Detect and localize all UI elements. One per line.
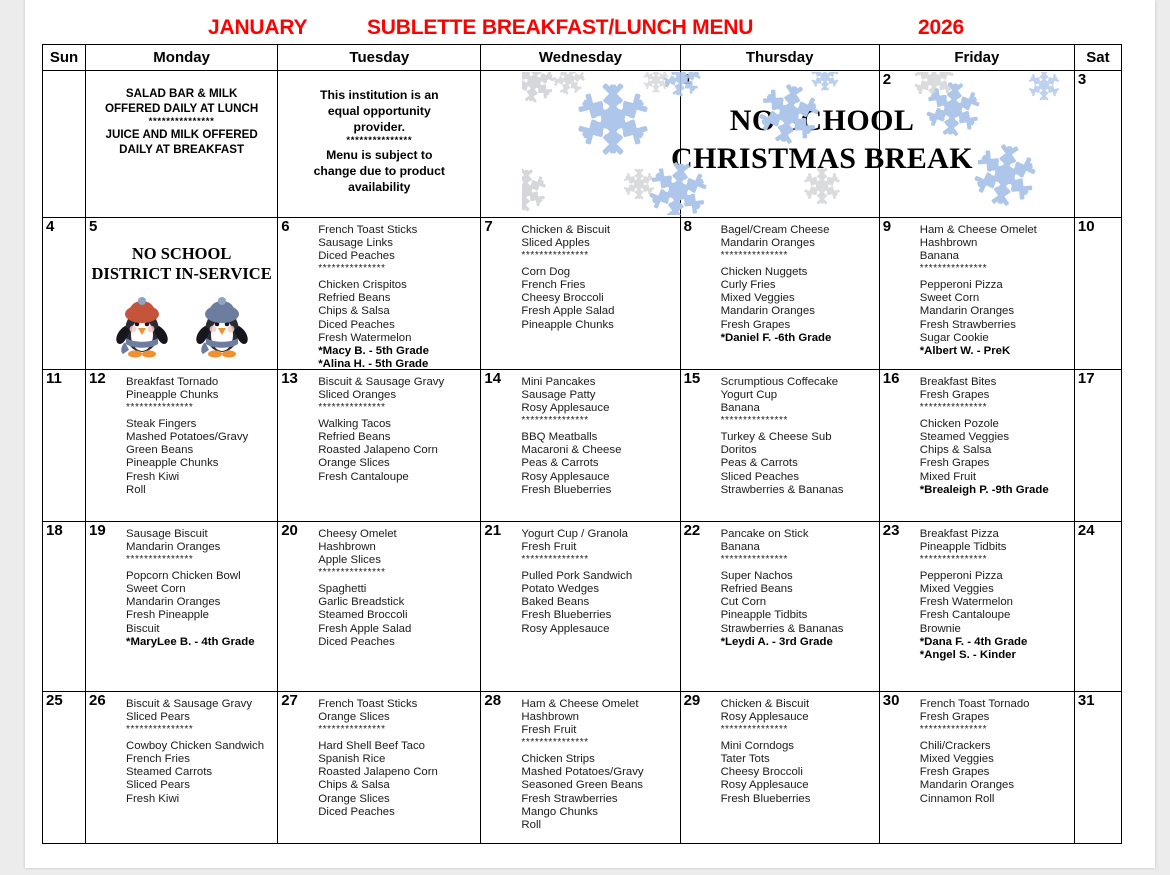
lunch-item: Fresh Strawberries	[920, 319, 1070, 332]
lunch-item: Mandarin Oranges	[920, 305, 1070, 318]
lunch-item: BBQ Meatballs	[521, 431, 675, 444]
breakfast-item: Hashbrown	[521, 711, 675, 724]
lunch-item: Cheesy Broccoli	[521, 292, 675, 305]
breakfast-item: Banana	[721, 541, 875, 554]
institution-line5: change due to product	[314, 164, 445, 178]
menu-separator: ***************	[318, 263, 476, 274]
day-menu: Scrumptious CoffecakeYogurt CupBanana***…	[721, 376, 875, 497]
lunch-item: Chips & Salsa	[318, 305, 476, 318]
calendar-day-cell[interactable]: 12Breakfast TornadoPineapple Chunks*****…	[86, 370, 278, 522]
breakfast-item: Apple Slices	[318, 554, 476, 567]
birthday-note: *Alina H. - 5th Grade	[318, 358, 476, 371]
breakfast-item: Bagel/Cream Cheese	[721, 224, 875, 237]
lunch-item: Fresh Apple Salad	[318, 623, 476, 636]
lunch-item: Mashed Potatoes/Gravy	[521, 766, 675, 779]
institution-separator: ***************	[286, 135, 472, 147]
lunch-item: Pepperoni Pizza	[920, 279, 1070, 292]
lunch-item: Chicken Crispitos	[318, 279, 476, 292]
weekday-header-monday: Monday	[86, 45, 278, 71]
calendar-day-cell[interactable]: SALAD BAR & MILK OFFERED DAILY AT LUNCH …	[86, 71, 278, 218]
menu-separator: ***************	[126, 402, 273, 413]
day-number: 17	[1078, 371, 1095, 387]
institution-notice: This institution is an equal opportunity…	[286, 87, 472, 195]
menu-calendar-table: Sun Monday Tuesday Wednesday Thursday Fr…	[42, 44, 1122, 844]
calendar-day-cell[interactable]: 9Ham & Cheese OmeletHashbrownBanana*****…	[879, 218, 1074, 370]
lunch-item: Mixed Fruit	[920, 471, 1070, 484]
day-menu: Sausage BiscuitMandarin Oranges*********…	[126, 528, 273, 649]
lunch-item: Pineapple Chunks	[126, 457, 273, 470]
weekday-header-sun: Sun	[43, 45, 86, 71]
calendar-week-row: 2526Biscuit & Sausage GravySliced Pears*…	[43, 692, 1122, 844]
weekday-header-row: Sun Monday Tuesday Wednesday Thursday Fr…	[43, 45, 1122, 71]
lunch-item: Orange Slices	[318, 457, 476, 470]
calendar-day-cell[interactable]: 18	[43, 522, 86, 692]
birthday-note: *Dana F. - 4th Grade	[920, 636, 1070, 649]
lunch-item: Hard Shell Beef Taco	[318, 740, 476, 753]
day-menu: French Toast SticksOrange Slices********…	[318, 698, 476, 819]
institution-line4: Menu is subject to	[326, 148, 432, 162]
day-number: 29	[684, 693, 701, 709]
day-number: 1	[684, 72, 692, 88]
lunch-item: Fresh Blueberries	[521, 484, 675, 497]
calendar-day-cell[interactable]: This institution is an equal opportunity…	[278, 71, 481, 218]
lunch-item: Roasted Jalapeno Corn	[318, 444, 476, 457]
breakfast-item: Orange Slices	[318, 711, 476, 724]
lunch-item: Spaghetti	[318, 583, 476, 596]
lunch-item: Steamed Carrots	[126, 766, 273, 779]
lunch-item: Mixed Veggies	[920, 753, 1070, 766]
lunch-item: Peas & Carrots	[521, 457, 675, 470]
lunch-item: Diced Peaches	[318, 319, 476, 332]
breakfast-item: Fresh Grapes	[920, 711, 1070, 724]
weekday-header-thursday: Thursday	[680, 45, 879, 71]
day-number: 12	[89, 371, 106, 387]
lunch-item: Pineapple Tidbits	[721, 609, 875, 622]
menu-separator: ***************	[721, 415, 875, 426]
breakfast-item: Pineapple Chunks	[126, 389, 273, 402]
lunch-item: Fresh Kiwi	[126, 793, 273, 806]
lunch-item: Steak Fingers	[126, 418, 273, 431]
breakfast-item: Cheesy Omelet	[318, 528, 476, 541]
calendar-day-cell[interactable]: 22Pancake on StickBanana***************S…	[680, 522, 879, 692]
day-number: 6	[281, 219, 289, 235]
day-number: 15	[684, 371, 701, 387]
day-menu: Breakfast PizzaPineapple Tidbits********…	[920, 528, 1070, 662]
day-menu: Pancake on StickBanana***************Sup…	[721, 528, 875, 649]
birthday-note: *Daniel F. -6th Grade	[721, 332, 875, 345]
birthday-note: *MaryLee B. - 4th Grade	[126, 636, 273, 649]
breakfast-item: Chicken & Biscuit	[721, 698, 875, 711]
breakfast-item: Pineapple Tidbits	[920, 541, 1070, 554]
breakfast-item: Rosy Applesauce	[721, 711, 875, 724]
day-number: 13	[281, 371, 298, 387]
breakfast-item: Diced Peaches	[318, 250, 476, 263]
breakfast-item: Sausage Biscuit	[126, 528, 273, 541]
institution-line1: This institution is an	[320, 88, 439, 102]
day-menu: French Toast SticksSausage LinksDiced Pe…	[318, 224, 476, 371]
lunch-item: Fresh Watermelon	[318, 332, 476, 345]
calendar-day-cell[interactable]	[481, 71, 680, 218]
breakfast-item: Rosy Applesauce	[521, 402, 675, 415]
lunch-item: Sugar Cookie	[920, 332, 1070, 345]
calendar-week-row: 1819Sausage BiscuitMandarin Oranges*****…	[43, 522, 1122, 692]
breakfast-item: Ham & Cheese Omelet	[521, 698, 675, 711]
calendar-day-cell[interactable]: 28Ham & Cheese OmeletHashbrownFresh Frui…	[481, 692, 680, 844]
lunch-item: Cowboy Chicken Sandwich	[126, 740, 273, 753]
lunch-item: Steamed Veggies	[920, 431, 1070, 444]
breakfast-item: Sliced Pears	[126, 711, 273, 724]
day-number: 21	[484, 523, 501, 539]
lunch-item: Brownie	[920, 623, 1070, 636]
lunch-item: Biscuit	[126, 623, 273, 636]
lunch-item: Refried Beans	[318, 292, 476, 305]
salad-notice-line1: SALAD BAR & MILK	[126, 87, 237, 100]
lunch-item: Mini Corndogs	[721, 740, 875, 753]
in-service-notice: NO SCHOOL DISTRICT IN-SERVICE	[86, 244, 277, 284]
day-menu: Ham & Cheese OmeletHashbrownFresh Fruit*…	[521, 698, 675, 832]
lunch-item: Doritos	[721, 444, 875, 457]
calendar-day-cell[interactable]: 24	[1074, 522, 1121, 692]
day-number: 16	[883, 371, 900, 387]
lunch-item: Tater Tots	[721, 753, 875, 766]
lunch-item: French Fries	[126, 753, 273, 766]
day-number: 23	[883, 523, 900, 539]
breakfast-item: Breakfast Bites	[920, 376, 1070, 389]
lunch-item: Seasoned Green Beans	[521, 779, 675, 792]
menu-separator: ***************	[721, 250, 875, 261]
calendar-day-cell[interactable]: 14Mini PancakesSausage PattyRosy Applesa…	[481, 370, 680, 522]
lunch-item: Fresh Cantaloupe	[920, 609, 1070, 622]
calendar-day-cell[interactable]: 6French Toast SticksSausage LinksDiced P…	[278, 218, 481, 370]
breakfast-item: Fresh Fruit	[521, 724, 675, 737]
day-number: 9	[883, 219, 891, 235]
menu-separator: ***************	[126, 554, 273, 565]
lunch-item: Chips & Salsa	[920, 444, 1070, 457]
day-number: 7	[484, 219, 492, 235]
calendar-day-cell[interactable]: 2	[879, 71, 1074, 218]
day-number: 14	[484, 371, 501, 387]
lunch-item: Mandarin Oranges	[126, 596, 273, 609]
weekday-header-sat: Sat	[1074, 45, 1121, 71]
lunch-item: Orange Slices	[318, 793, 476, 806]
day-number: 10	[1078, 219, 1095, 235]
lunch-item: Corn Dog	[521, 266, 675, 279]
salad-notice-line2: OFFERED DAILY AT LUNCH	[105, 102, 258, 115]
menu-separator: ***************	[920, 724, 1070, 735]
breakfast-item: Banana	[920, 250, 1070, 263]
breakfast-item: Biscuit & Sausage Gravy	[126, 698, 273, 711]
lunch-item: Strawberries & Bananas	[721, 623, 875, 636]
lunch-item: Chicken Strips	[521, 753, 675, 766]
menu-separator: ***************	[521, 737, 675, 748]
breakfast-item: Ham & Cheese Omelet	[920, 224, 1070, 237]
lunch-item: Fresh Blueberries	[521, 609, 675, 622]
day-number: 8	[684, 219, 692, 235]
breakfast-item: Breakfast Tornado	[126, 376, 273, 389]
day-number: 26	[89, 693, 106, 709]
weekday-header-wednesday: Wednesday	[481, 45, 680, 71]
lunch-item: Chili/Crackers	[920, 740, 1070, 753]
day-menu: Bagel/Cream CheeseMandarin Oranges******…	[721, 224, 875, 345]
calendar-day-cell[interactable]: 23Breakfast PizzaPineapple Tidbits******…	[879, 522, 1074, 692]
calendar-day-cell[interactable]: 15Scrumptious CoffecakeYogurt CupBanana*…	[680, 370, 879, 522]
penguin-icon	[191, 286, 253, 360]
in-service-line2: DISTRICT IN-SERVICE	[92, 264, 272, 283]
calendar-day-cell[interactable]: 20Cheesy OmeletHashbrownApple Slices****…	[278, 522, 481, 692]
day-number: 30	[883, 693, 900, 709]
lunch-item: Chips & Salsa	[318, 779, 476, 792]
day-menu: Ham & Cheese OmeletHashbrownBanana******…	[920, 224, 1070, 358]
weekday-header-friday: Friday	[879, 45, 1074, 71]
lunch-item: Pepperoni Pizza	[920, 570, 1070, 583]
menu-separator: ***************	[318, 567, 476, 578]
calendar-day-cell[interactable]: 19Sausage BiscuitMandarin Oranges*******…	[86, 522, 278, 692]
lunch-item: Pulled Pork Sandwich	[521, 570, 675, 583]
calendar-day-cell[interactable]: 21Yogurt Cup / GranolaFresh Fruit*******…	[481, 522, 680, 692]
day-menu: Chicken & BiscuitSliced Apples**********…	[521, 224, 675, 332]
menu-separator: ***************	[126, 724, 273, 735]
breakfast-item: Mandarin Oranges	[721, 237, 875, 250]
calendar-day-cell[interactable]: 30French Toast TornadoFresh Grapes******…	[879, 692, 1074, 844]
breakfast-item: Mandarin Oranges	[126, 541, 273, 554]
lunch-item: Spanish Rice	[318, 753, 476, 766]
lunch-item: Rosy Applesauce	[521, 623, 675, 636]
lunch-item: Refried Beans	[721, 583, 875, 596]
lunch-item: Fresh Cantaloupe	[318, 471, 476, 484]
lunch-item: Peas & Carrots	[721, 457, 875, 470]
lunch-item: Turkey & Cheese Sub	[721, 431, 875, 444]
day-menu: Chicken & BiscuitRosy Applesauce********…	[721, 698, 875, 806]
lunch-item: Mandarin Oranges	[920, 779, 1070, 792]
lunch-item: Mandarin Oranges	[721, 305, 875, 318]
lunch-item: Steamed Broccoli	[318, 609, 476, 622]
calendar-year-label: 2026	[918, 16, 964, 40]
penguin-decoration	[86, 286, 277, 360]
calendar-week-row: 45 NO SCHOOL DISTRICT IN-SERVICE	[43, 218, 1122, 370]
salad-notice-line3: JUICE AND MILK OFFERED	[106, 128, 258, 141]
lunch-item: Fresh Pineapple	[126, 609, 273, 622]
calendar-page: JANUARY SUBLETTE BREAKFAST/LUNCH MENU 20…	[25, 0, 1155, 868]
breakfast-item: Fresh Grapes	[920, 389, 1070, 402]
menu-separator: ***************	[920, 554, 1070, 565]
menu-separator: ***************	[920, 402, 1070, 413]
lunch-item: Sliced Pears	[126, 779, 273, 792]
day-menu: French Toast TornadoFresh Grapes********…	[920, 698, 1070, 806]
breakfast-item: Pancake on Stick	[721, 528, 875, 541]
lunch-item: Fresh Kiwi	[126, 471, 273, 484]
lunch-item: Fresh Grapes	[920, 766, 1070, 779]
lunch-item: Green Beans	[126, 444, 273, 457]
lunch-item: Chicken Nuggets	[721, 266, 875, 279]
day-number: 20	[281, 523, 298, 539]
calendar-day-cell[interactable]: 8Bagel/Cream CheeseMandarin Oranges*****…	[680, 218, 879, 370]
lunch-item: Sliced Peaches	[721, 471, 875, 484]
calendar-day-cell[interactable]: 29Chicken & BiscuitRosy Applesauce******…	[680, 692, 879, 844]
menu-separator: ***************	[521, 554, 675, 565]
day-number: 25	[46, 693, 63, 709]
lunch-item: Cinnamon Roll	[920, 793, 1070, 806]
lunch-item: Cheesy Broccoli	[721, 766, 875, 779]
lunch-item: Rosy Applesauce	[521, 471, 675, 484]
calendar-day-cell[interactable]	[43, 71, 86, 218]
calendar-week-row: 1112Breakfast TornadoPineapple Chunks***…	[43, 370, 1122, 522]
lunch-item: Fresh Apple Salad	[521, 305, 675, 318]
lunch-item: Rosy Applesauce	[721, 779, 875, 792]
lunch-item: Roasted Jalapeno Corn	[318, 766, 476, 779]
breakfast-item: Hashbrown	[318, 541, 476, 554]
day-number: 28	[484, 693, 501, 709]
lunch-item: Fresh Blueberries	[721, 793, 875, 806]
lunch-item: Mango Chunks	[521, 806, 675, 819]
lunch-item: Roll	[126, 484, 273, 497]
lunch-item: Mashed Potatoes/Gravy	[126, 431, 273, 444]
calendar-month-label: JANUARY	[208, 16, 307, 40]
lunch-item: Fresh Grapes	[920, 457, 1070, 470]
menu-separator: ***************	[721, 554, 875, 565]
lunch-item: Refried Beans	[318, 431, 476, 444]
calendar-title: SUBLETTE BREAKFAST/LUNCH MENU	[367, 16, 753, 40]
breakfast-item: Scrumptious Coffecake	[721, 376, 875, 389]
birthday-note: *Angel S. - Kinder	[920, 649, 1070, 662]
calendar-day-cell[interactable]: 26Biscuit & Sausage GravySliced Pears***…	[86, 692, 278, 844]
day-number: 11	[46, 371, 62, 387]
lunch-item: Sweet Corn	[126, 583, 273, 596]
lunch-item: Fresh Watermelon	[920, 596, 1070, 609]
calendar-day-cell[interactable]: 10	[1074, 218, 1121, 370]
lunch-item: Baked Beans	[521, 596, 675, 609]
day-number: 22	[684, 523, 701, 539]
calendar-day-cell[interactable]: 13Biscuit & Sausage GravySliced Oranges*…	[278, 370, 481, 522]
institution-line2: equal opportunity	[328, 104, 431, 118]
day-number: 3	[1078, 72, 1086, 88]
menu-separator: ***************	[318, 724, 476, 735]
lunch-item: Walking Tacos	[318, 418, 476, 431]
lunch-item: Pineapple Chunks	[521, 319, 675, 332]
calendar-day-cell[interactable]: 27French Toast SticksOrange Slices******…	[278, 692, 481, 844]
calendar-day-cell[interactable]: 11	[43, 370, 86, 522]
lunch-item: Strawberries & Bananas	[721, 484, 875, 497]
breakfast-item: Banana	[721, 402, 875, 415]
breakfast-item: Sliced Apples	[521, 237, 675, 250]
day-menu: Biscuit & Sausage GravySliced Oranges***…	[318, 376, 476, 484]
lunch-item: Fresh Strawberries	[521, 793, 675, 806]
lunch-item: Macaroni & Cheese	[521, 444, 675, 457]
lunch-item: Sweet Corn	[920, 292, 1070, 305]
breakfast-item: Sausage Patty	[521, 389, 675, 402]
breakfast-item: Biscuit & Sausage Gravy	[318, 376, 476, 389]
calendar-week-row: SALAD BAR & MILK OFFERED DAILY AT LUNCH …	[43, 71, 1122, 218]
weekday-header-tuesday: Tuesday	[278, 45, 481, 71]
calendar-title-bar: JANUARY SUBLETTE BREAKFAST/LUNCH MENU 20…	[42, 16, 1137, 42]
lunch-item: Diced Peaches	[318, 636, 476, 649]
lunch-item: Mixed Veggies	[721, 292, 875, 305]
calendar-day-cell[interactable]: 4	[43, 218, 86, 370]
lunch-item: Cut Corn	[721, 596, 875, 609]
calendar-day-cell[interactable]: 3	[1074, 71, 1121, 218]
day-number: 31	[1078, 693, 1095, 709]
day-menu: Mini PancakesSausage PattyRosy Applesauc…	[521, 376, 675, 497]
salad-notice-line4: DAILY AT BREAKFAST	[119, 143, 244, 156]
day-menu: Yogurt Cup / GranolaFresh Fruit*********…	[521, 528, 675, 636]
salad-bar-notice: SALAD BAR & MILK OFFERED DAILY AT LUNCH …	[94, 87, 269, 157]
day-number: 4	[46, 219, 54, 235]
menu-separator: ***************	[920, 263, 1070, 274]
breakfast-item: Sausage Links	[318, 237, 476, 250]
breakfast-item: French Toast Tornado	[920, 698, 1070, 711]
lunch-item: French Fries	[521, 279, 675, 292]
breakfast-item: Chicken & Biscuit	[521, 224, 675, 237]
calendar-body: SALAD BAR & MILK OFFERED DAILY AT LUNCH …	[43, 71, 1122, 844]
calendar-day-cell[interactable]: 25	[43, 692, 86, 844]
breakfast-item: Fresh Fruit	[521, 541, 675, 554]
calendar-day-cell[interactable]: 17	[1074, 370, 1121, 522]
day-number: 19	[89, 523, 106, 539]
lunch-item: Super Nachos	[721, 570, 875, 583]
in-service-line1: NO SCHOOL	[132, 244, 231, 263]
calendar-day-cell[interactable]: 31	[1074, 692, 1121, 844]
day-number: 18	[46, 523, 63, 539]
menu-separator: ***************	[318, 402, 476, 413]
lunch-item: Roll	[521, 819, 675, 832]
breakfast-item: Hashbrown	[920, 237, 1070, 250]
day-number: 2	[883, 72, 891, 88]
breakfast-item: Breakfast Pizza	[920, 528, 1070, 541]
day-menu: Breakfast BitesFresh Grapes*************…	[920, 376, 1070, 497]
lunch-item: Chicken Pozole	[920, 418, 1070, 431]
menu-separator: ***************	[521, 415, 675, 426]
birthday-note: *Brealeigh P. -9th Grade	[920, 484, 1070, 497]
birthday-note: *Albert W. - PreK	[920, 345, 1070, 358]
lunch-item: Popcorn Chicken Bowl	[126, 570, 273, 583]
day-number: 24	[1078, 523, 1095, 539]
calendar-day-cell[interactable]: 7Chicken & BiscuitSliced Apples*********…	[481, 218, 680, 370]
birthday-note: *Macy B. - 5th Grade	[318, 345, 476, 358]
penguin-icon	[111, 286, 173, 360]
calendar-day-cell[interactable]: 1	[680, 71, 879, 218]
institution-line3: provider.	[354, 120, 405, 134]
birthday-note: *Leydi A. - 3rd Grade	[721, 636, 875, 649]
breakfast-item: Mini Pancakes	[521, 376, 675, 389]
day-number: 27	[281, 693, 298, 709]
breakfast-item: Sliced Oranges	[318, 389, 476, 402]
lunch-item: Diced Peaches	[318, 806, 476, 819]
day-menu: Biscuit & Sausage GravySliced Pears*****…	[126, 698, 273, 806]
lunch-item: Garlic Breadstick	[318, 596, 476, 609]
breakfast-item: French Toast Sticks	[318, 698, 476, 711]
lunch-item: Potato Wedges	[521, 583, 675, 596]
menu-separator: ***************	[521, 250, 675, 261]
day-menu: Breakfast TornadoPineapple Chunks*******…	[126, 376, 273, 497]
calendar-day-cell[interactable]: 5 NO SCHOOL DISTRICT IN-SERVICE	[86, 218, 278, 370]
breakfast-item: French Toast Sticks	[318, 224, 476, 237]
calendar-day-cell[interactable]: 16Breakfast BitesFresh Grapes***********…	[879, 370, 1074, 522]
lunch-item: Mixed Veggies	[920, 583, 1070, 596]
breakfast-item: Yogurt Cup	[721, 389, 875, 402]
institution-line6: availability	[348, 180, 410, 194]
day-menu: Cheesy OmeletHashbrownApple Slices******…	[318, 528, 476, 649]
salad-notice-separator: ***************	[94, 116, 269, 128]
lunch-item: Curly Fries	[721, 279, 875, 292]
day-number: 5	[89, 219, 97, 235]
breakfast-item: Yogurt Cup / Granola	[521, 528, 675, 541]
lunch-item: Fresh Grapes	[721, 319, 875, 332]
menu-separator: ***************	[721, 724, 875, 735]
